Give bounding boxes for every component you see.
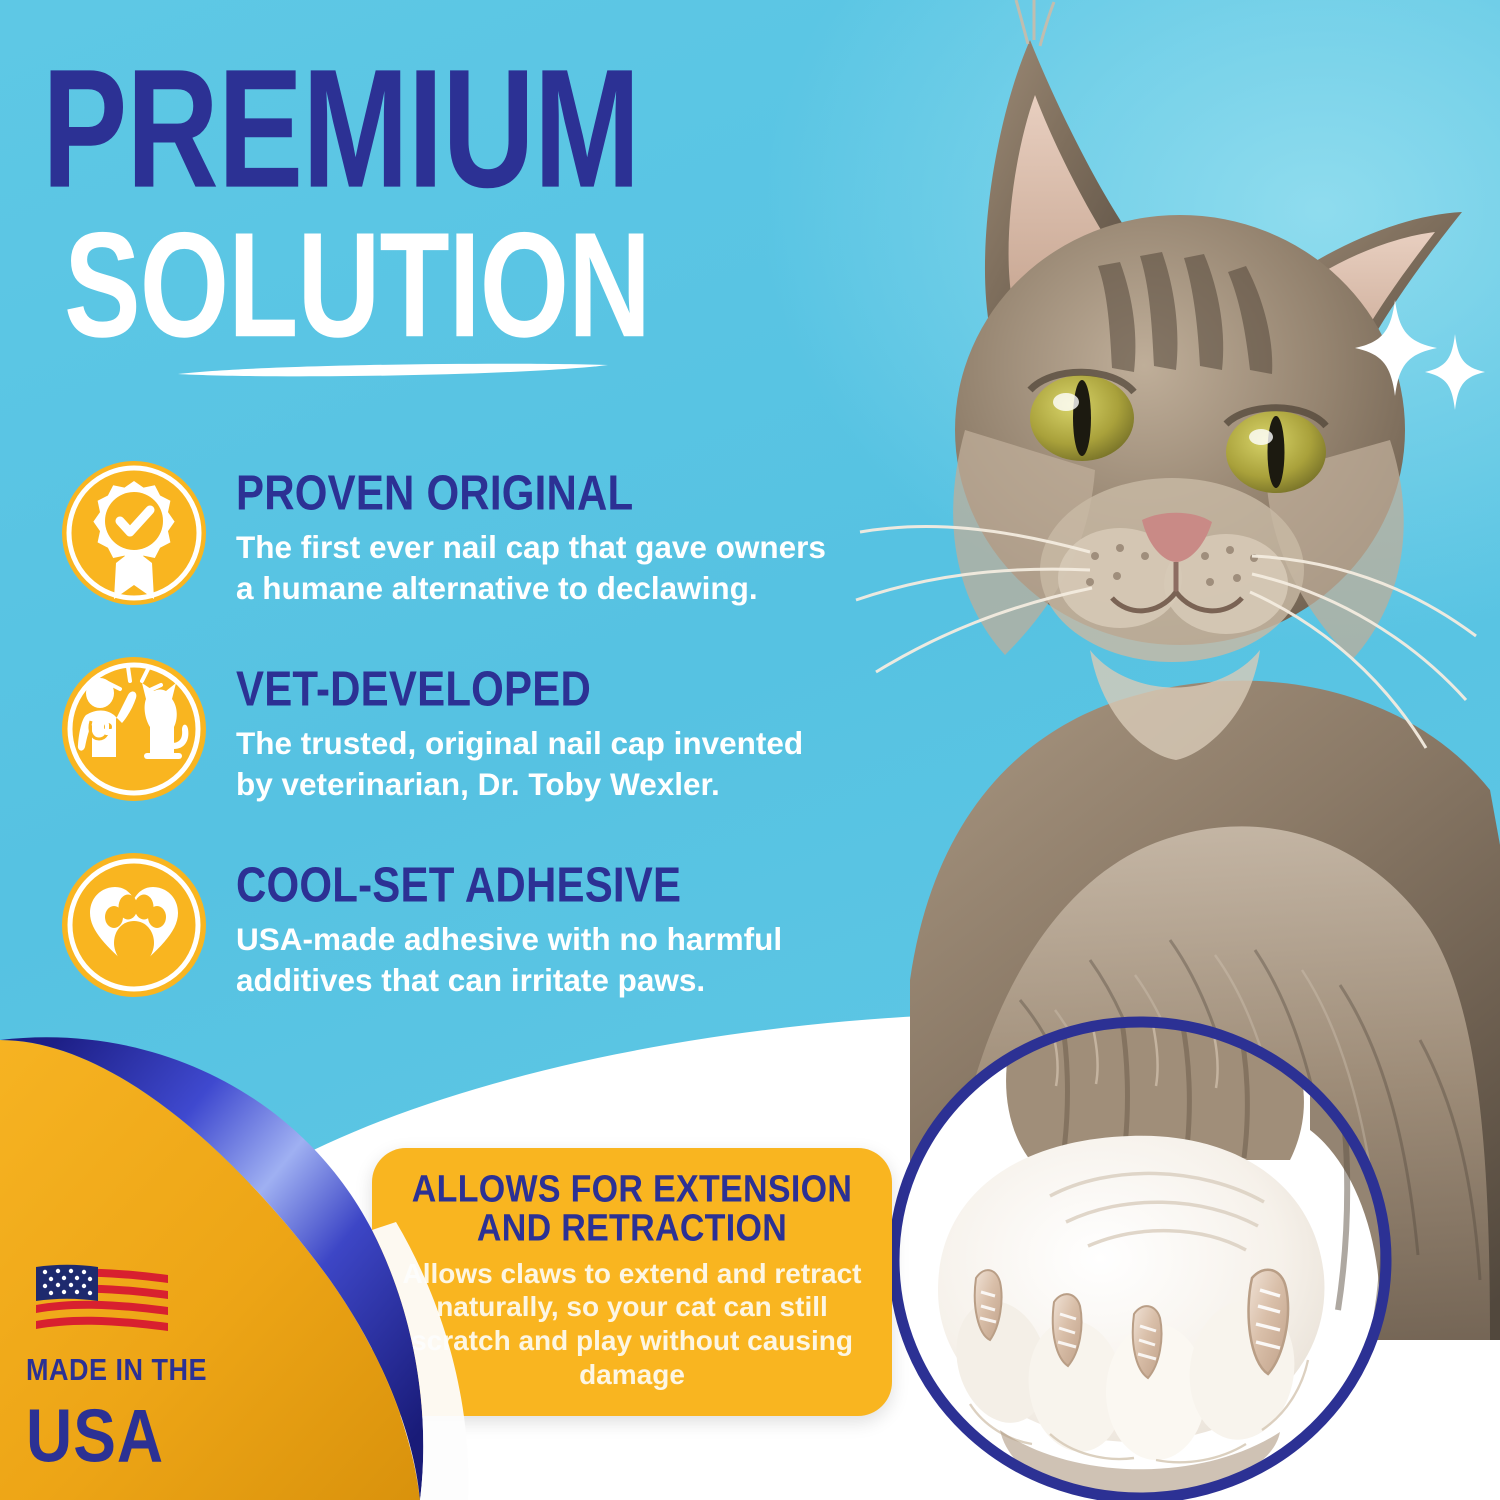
feature-title: VET-DEVELOPED (236, 665, 858, 714)
award-ribbon-check-icon (58, 457, 210, 609)
vet-high-five-cat-icon (58, 653, 210, 805)
swoosh-divider (178, 362, 608, 380)
feature-item-cool-set-adhesive: COOL-SET ADHESIVE USA-made adhesive with… (58, 847, 858, 1001)
feature-text-block: VET-DEVELOPED The trusted, original nail… (236, 651, 858, 805)
headline-line-2: SOLUTION (42, 218, 872, 356)
feature-item-vet-developed: VET-DEVELOPED The trusted, original nail… (58, 651, 858, 805)
feature-title: PROVEN ORIGINAL (236, 469, 858, 518)
headline-line-1: PREMIUM (42, 52, 872, 207)
feature-item-proven-original: PROVEN ORIGINAL The first ever nail cap … (58, 455, 858, 609)
usa-flag-icon (26, 1255, 176, 1345)
product-infographic: PREMIUM SOLUTION (0, 0, 1500, 1500)
feature-list: PROVEN ORIGINAL The first ever nail cap … (58, 455, 858, 1043)
sparkle-stars-icon (1355, 300, 1485, 415)
feature-title: COOL-SET ADHESIVE (236, 861, 858, 910)
made-in-usa-badge: MADE IN THE USA (26, 1255, 256, 1462)
page-title: PREMIUM SOLUTION (42, 52, 872, 324)
feature-text-block: COOL-SET ADHESIVE USA-made adhesive with… (236, 847, 858, 1001)
feature-body: The trusted, original nail cap invented … (236, 723, 836, 805)
feature-body: The first ever nail cap that gave owners… (236, 527, 836, 609)
usa-label: USA (26, 1398, 256, 1474)
heart-paw-icon (58, 849, 210, 1001)
made-in-the-label: MADE IN THE (26, 1355, 256, 1386)
feature-body: USA-made adhesive with no harmful additi… (236, 919, 836, 1001)
cat-paw-with-nail-caps-photo (880, 1010, 1400, 1500)
feature-text-block: PROVEN ORIGINAL The first ever nail cap … (236, 455, 858, 609)
